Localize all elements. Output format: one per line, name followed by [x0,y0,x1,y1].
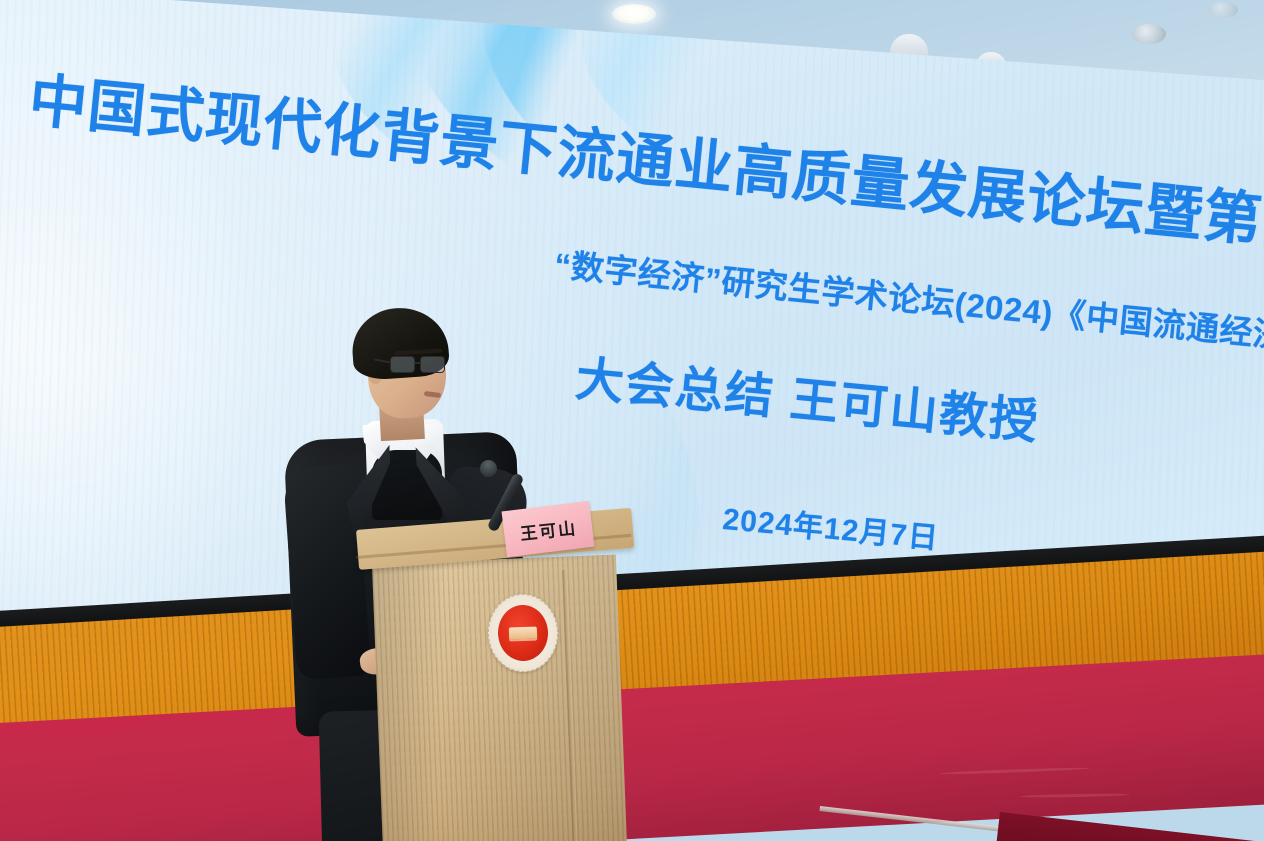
eyeglasses-icon [390,356,446,373]
ceiling-speaker-icon [1208,2,1238,18]
slide-title-line2: “数字经济”研究生学术论坛(2024)《中国流通经济》学术论坛与 [553,248,1264,372]
carpet-scuff [940,767,1090,775]
slide-line2-tail: 《中国流通经济》学术论坛与 [1051,295,1264,374]
stage-edge [819,806,1264,841]
stage-carpet [0,653,1264,841]
lectern: 王可山 [356,530,632,841]
slide-headline: 大会总结 王可山教授 [573,356,1041,448]
conference-hall-photo: 中国式现代化背景下流通业高质量发展论坛暨第四届 “数字经济”研究生学术论坛(20… [0,0,1264,841]
carpet-scuff [1020,793,1130,798]
recessed-light-icon [612,4,656,24]
ceiling-speaker-icon [1132,24,1166,44]
speaker-name-card-text: 王可山 [518,514,577,545]
lectern-shading [372,555,627,841]
stage-front-face [993,812,1264,841]
slide-date: 2024年12月7日 [721,505,940,555]
slide-line2-main: “数字经济”研究生学术论坛(2024) [553,246,1055,332]
slide-title-line1: 中国式现代化背景下流通业高质量发展论坛暨第四届 [26,72,1264,262]
